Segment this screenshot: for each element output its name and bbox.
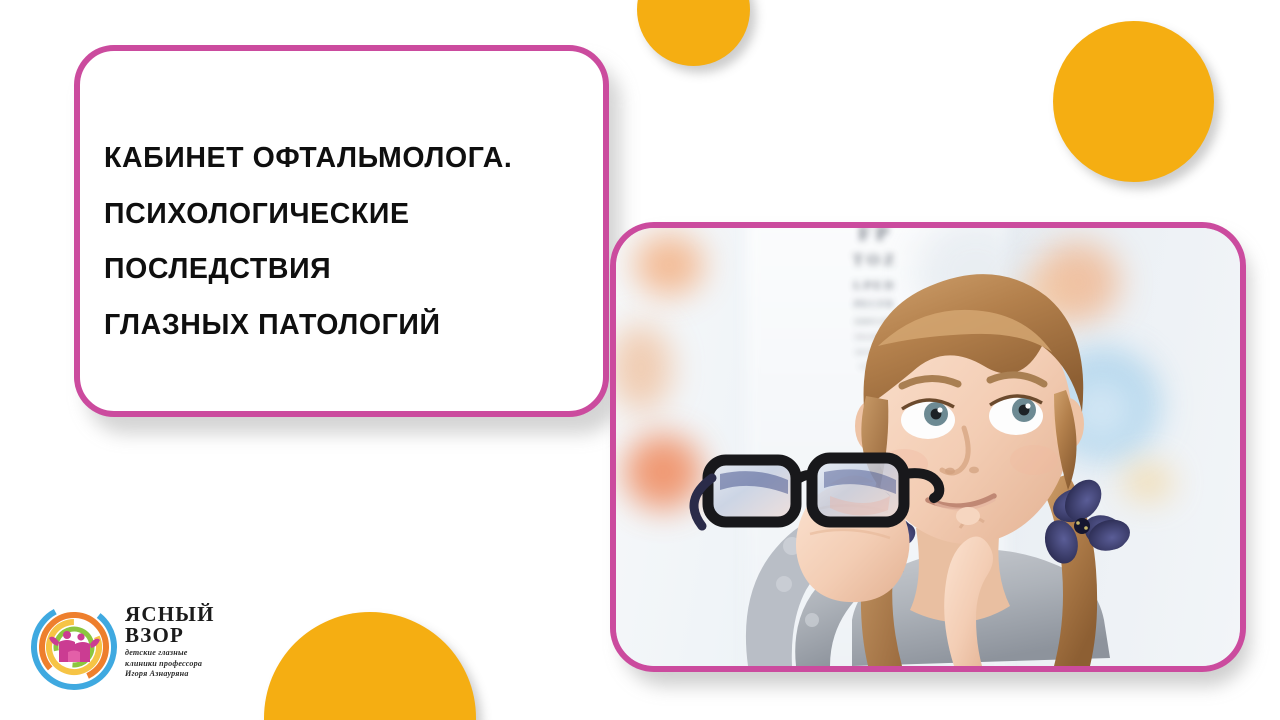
yellow-circle-top-center xyxy=(637,0,750,66)
yellow-circle-top-right xyxy=(1053,21,1214,182)
logo-word-line-1: ЯСНЫЙ xyxy=(125,604,245,625)
girl-holding-glasses-photo: F PT O ZL P E DP E C F DE D F C Z PF E L… xyxy=(616,228,1240,666)
slide-canvas: КАБИНЕТ ОФТАЛЬМОЛОГА. ПСИХОЛОГИЧЕСКИЕ ПО… xyxy=(0,0,1280,720)
page-title: КАБИНЕТ ОФТАЛЬМОЛОГА. ПСИХОЛОГИЧЕСКИЕ ПО… xyxy=(90,131,605,353)
logo-subtitle-line-2: клиники профессора xyxy=(125,659,245,669)
logo-rings-icon xyxy=(30,603,118,691)
logo-subtitle-line-3: Игоря Азнауряна xyxy=(125,669,245,679)
logo-word-line-2: ВЗОР xyxy=(125,625,245,646)
logo-subtitle: детские глазные клиники профессора Игоря… xyxy=(125,648,245,679)
yasniy-vzor-logo: ЯСНЫЙ ВЗОР детские глазные клиники профе… xyxy=(30,600,245,695)
eyeglasses xyxy=(694,458,939,526)
logo-wordmark: ЯСНЫЙ ВЗОР детские глазные клиники профе… xyxy=(125,604,245,679)
title-card: КАБИНЕТ ОФТАЛЬМОЛОГА. ПСИХОЛОГИЧЕСКИЕ ПО… xyxy=(74,45,609,417)
photo-card: F PT O ZL P E DP E C F DE D F C Z PF E L… xyxy=(610,222,1246,672)
girl-illustration xyxy=(616,228,1240,666)
yellow-circle-bottom-left xyxy=(264,612,476,720)
logo-subtitle-line-1: детские глазные xyxy=(125,648,245,658)
